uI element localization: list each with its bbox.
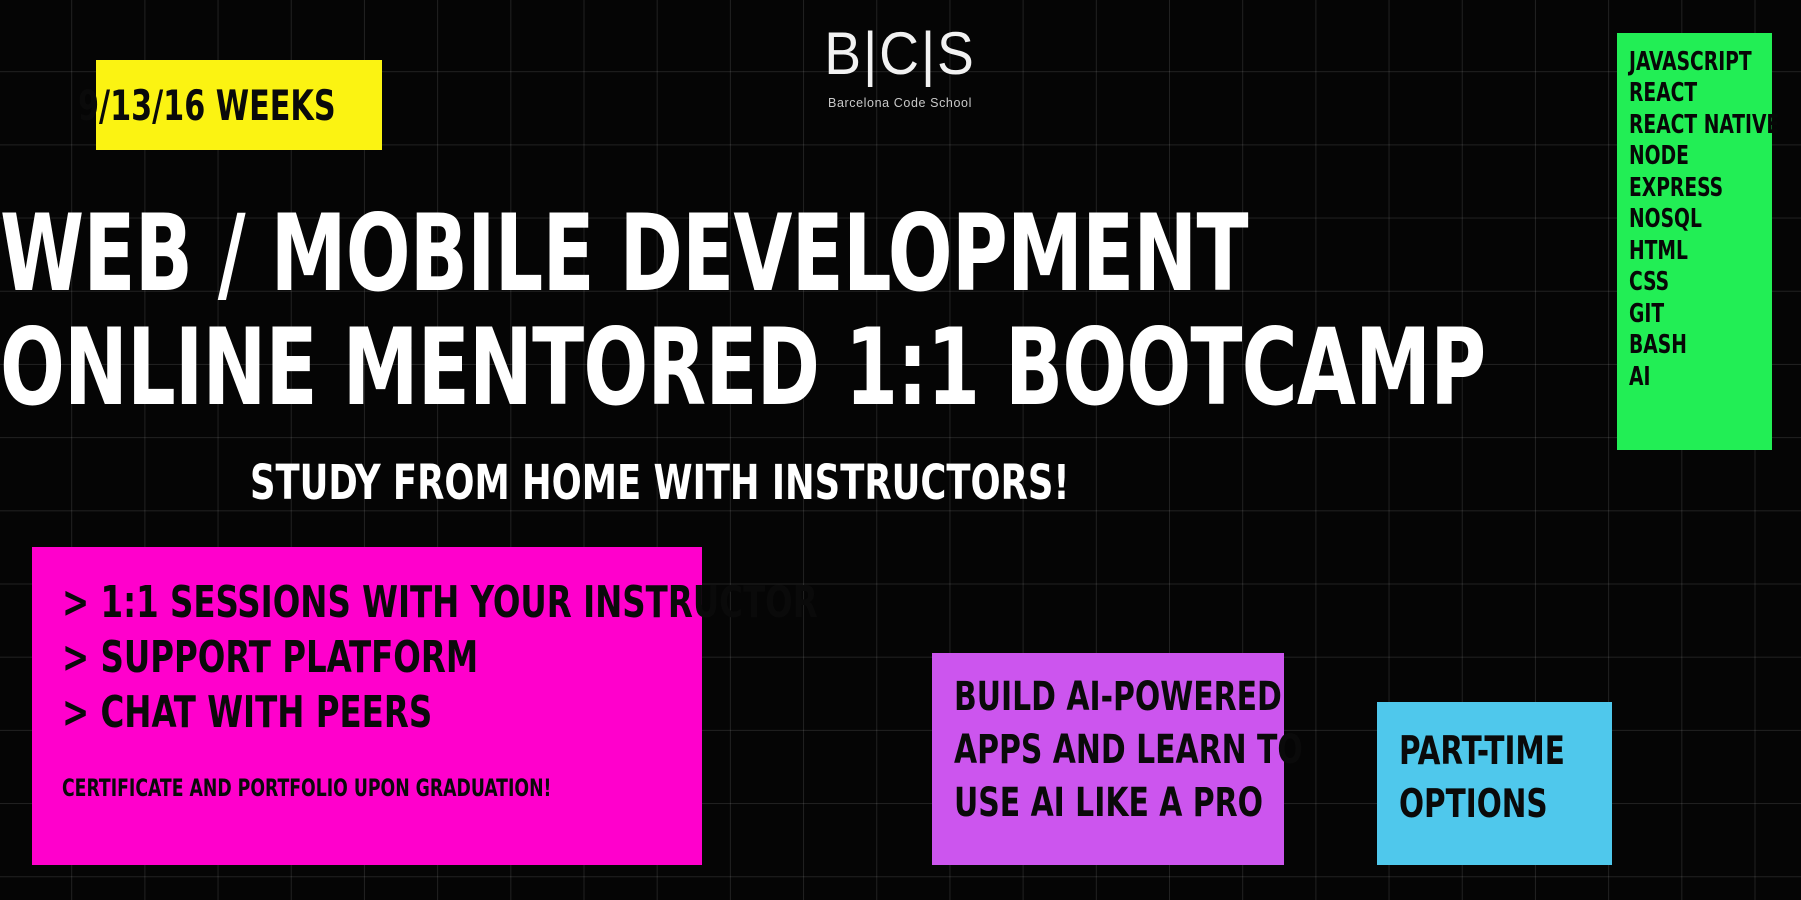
tech-stack-list: JAVASCRIPT REACT REACT NATIVE NODE EXPRE… <box>1629 47 1772 393</box>
duration-badge: 9/13/16 WEEKS <box>96 60 382 150</box>
tech-stack-item: NOSQL <box>1629 204 1743 235</box>
ai-highlight-box: BUILD AI-POWERED APPS AND LEARN TO USE A… <box>932 653 1284 865</box>
brand-logo: B|C|S Barcelona Code School <box>780 24 1020 110</box>
tech-stack-item: CSS <box>1629 267 1743 298</box>
tech-stack-item: REACT <box>1629 78 1743 109</box>
ai-line-3: USE AI LIKE A PRO <box>954 777 1228 830</box>
logo-mark: B|C|S <box>790 24 1011 84</box>
tech-stack-item: REACT NATIVE <box>1629 110 1743 141</box>
tech-stack-item: NODE <box>1629 141 1743 172</box>
ai-line-2: APPS AND LEARN TO <box>954 724 1228 777</box>
subtitle-text: STUDY FROM HOME WITH INSTRUCTORS! <box>250 455 1070 511</box>
part-time-line-1: PART-TIME <box>1399 726 1578 779</box>
tech-stack-item: AI <box>1629 362 1743 393</box>
duration-badge-label: 9/13/16 WEEKS <box>78 81 336 130</box>
page-subtitle: STUDY FROM HOME WITH INSTRUCTORS! <box>0 455 1500 511</box>
tech-stack-item: GIT <box>1629 299 1743 330</box>
feature-item: > SUPPORT PLATFORM <box>62 630 587 685</box>
tech-stack-item: EXPRESS <box>1629 173 1743 204</box>
poster-canvas: B|C|S Barcelona Code School 9/13/16 WEEK… <box>0 0 1801 900</box>
features-note: CERTIFICATE AND PORTFOLIO UPON GRADUATIO… <box>62 774 574 802</box>
part-time-box: PART-TIME OPTIONS <box>1377 702 1612 865</box>
features-list: > 1:1 SESSIONS WITH YOUR INSTRUCTOR > SU… <box>62 575 702 740</box>
tech-stack-box: JAVASCRIPT REACT REACT NATIVE NODE EXPRE… <box>1617 33 1772 450</box>
part-time-line-2: OPTIONS <box>1399 779 1578 832</box>
tech-stack-item: JAVASCRIPT <box>1629 47 1743 78</box>
headline-line-1: WEB / MOBILE DEVELOPMENT <box>0 200 1200 308</box>
logo-subtitle: Barcelona Code School <box>780 96 1020 110</box>
tech-stack-item: BASH <box>1629 330 1743 361</box>
feature-item: > CHAT WITH PEERS <box>62 685 587 740</box>
feature-item: > 1:1 SESSIONS WITH YOUR INSTRUCTOR <box>62 575 587 630</box>
tech-stack-item: HTML <box>1629 236 1743 267</box>
headline-line-2: ONLINE MENTORED 1:1 BOOTCAMP <box>0 314 1200 422</box>
page-title: WEB / MOBILE DEVELOPMENT ONLINE MENTORED… <box>0 200 1500 422</box>
features-box: > 1:1 SESSIONS WITH YOUR INSTRUCTOR > SU… <box>32 547 702 865</box>
ai-line-1: BUILD AI-POWERED <box>954 671 1228 724</box>
